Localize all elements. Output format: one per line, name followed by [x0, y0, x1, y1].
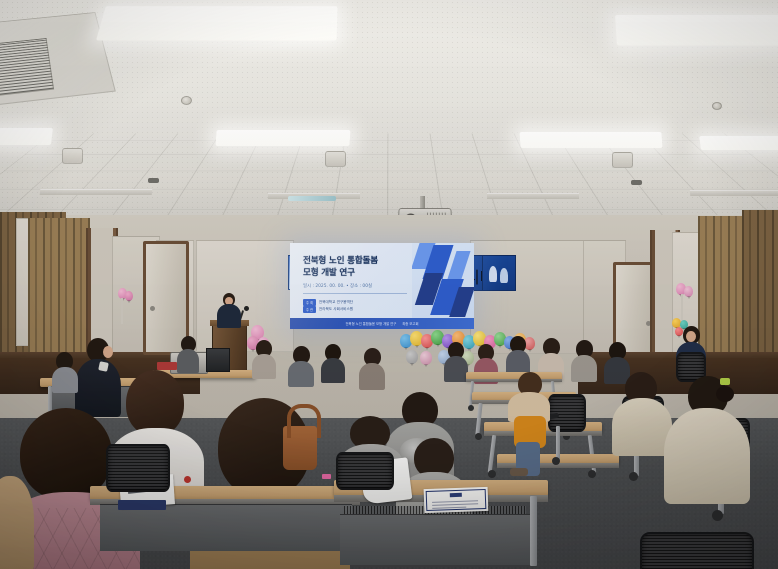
audience-member-cream-coat: [664, 376, 750, 502]
ceiling-light-panel: [519, 132, 662, 148]
ceiling-light-panel: [699, 136, 778, 150]
ceiling-sensor: [631, 180, 642, 185]
audience-member: [538, 338, 564, 376]
monitor-screen: [206, 348, 230, 372]
fire-sprinkler: [181, 96, 192, 105]
audience-member: [321, 344, 345, 380]
projection-screen: 전북형 노인 통합돌봄 모형 개발 연구 일시 : 2025. 00. 00. …: [290, 243, 474, 329]
speaker-torso: [217, 304, 241, 328]
red-folder: [157, 362, 177, 370]
audience-member: [177, 336, 199, 370]
ceiling-rail: [690, 190, 778, 196]
left-door-knob[interactable]: [150, 306, 155, 311]
banner-figure: [500, 268, 508, 283]
pink-sticky-note: [322, 474, 331, 479]
balloon: [406, 350, 418, 364]
slide-footer-text: 전북형 노인 통합돌봄 모형 개발 연구: [346, 321, 397, 326]
slide-title-line1: 전북형 노인 통합돌봄: [303, 256, 407, 268]
ceiling-sensor: [148, 178, 159, 183]
slide-footer-text: 최종 보고회: [402, 321, 418, 326]
projector-mount-arm: [420, 196, 425, 209]
ceiling-speaker: [62, 148, 83, 164]
desk-leg: [530, 496, 537, 566]
ceiling-speaker: [325, 151, 346, 167]
balloon-stand-pole: [681, 294, 683, 322]
speaker-at-podium: [216, 293, 242, 327]
audience-member: [252, 340, 276, 376]
audience-member: [571, 340, 597, 378]
slide-credit-row: 주 관 전라북도 사회서비스원: [303, 306, 353, 313]
seminar-room-photo: 니다! 전북형 노인 통합돌봄 모형 개발 연구 일시 : 2025. 00. …: [0, 0, 778, 569]
ceiling-light-panel: [215, 130, 350, 146]
chair-base-leg: [556, 426, 560, 460]
slide-title-line2: 모형 개발 연구: [303, 268, 407, 280]
audience-member: [0, 476, 34, 569]
handbag-strap: [287, 404, 321, 438]
air-conditioner-vent: [0, 12, 116, 106]
decor-balloon-pink: [684, 286, 693, 297]
slide-badge: 주 최: [303, 299, 316, 306]
mesh-office-chair[interactable]: [640, 532, 754, 569]
wall-blue-banner-right: [482, 255, 516, 291]
banner-figure: [489, 266, 497, 282]
podium-microphone-head: [244, 306, 249, 311]
person-torso: [359, 363, 385, 390]
desk-caster: [468, 405, 474, 411]
ceiling-fluorescent-strip: [288, 196, 336, 201]
slide-credit-text: 전북대학교 연구용역단: [319, 300, 353, 305]
person-coat: [0, 476, 34, 569]
person-torso: [321, 358, 345, 383]
ceiling-light-panel: [615, 15, 778, 45]
audience-member: [444, 342, 468, 378]
certificate-document: [424, 487, 489, 513]
ceiling-speaker: [612, 152, 633, 168]
person-torso: [571, 355, 597, 382]
balloon-stand-pole: [121, 298, 123, 324]
chair-caster: [629, 472, 638, 481]
slide-credit-row: 주 최 전북대학교 연구용역단: [303, 299, 353, 306]
desk-caster: [475, 433, 482, 440]
audience-member: [288, 346, 314, 384]
presentation-slide: 전북형 노인 통합돌봄 모형 개발 연구 일시 : 2025. 00. 00. …: [290, 243, 474, 329]
decor-balloon-pink: [125, 291, 133, 301]
audience-member-mustard-coat: [508, 372, 550, 444]
slide-badge: 주 관: [303, 306, 316, 313]
ceiling-light-panel: [0, 128, 53, 145]
right-curtain: [742, 210, 778, 362]
desk-modesty-panel: [100, 504, 352, 551]
mesh-office-chair[interactable]: [106, 444, 170, 492]
slide-divider: [303, 293, 407, 294]
fire-sprinkler: [712, 102, 722, 110]
person-coat: [664, 408, 750, 504]
person-coat: [612, 398, 672, 456]
ac-vent-grille: [0, 38, 54, 96]
person-face: [686, 331, 696, 342]
person-face: [103, 346, 113, 358]
hair-bun: [716, 386, 734, 402]
chair-caster: [552, 457, 560, 465]
certificate-emblem: [450, 493, 462, 497]
audience-member-cream-coat: [612, 372, 672, 454]
chevron-shape: [447, 251, 470, 279]
person-torso: [288, 361, 314, 387]
slide-title: 전북형 노인 통합돌봄 모형 개발 연구: [303, 256, 407, 280]
person-torso: [252, 354, 276, 379]
hair-clip: [720, 378, 730, 385]
audience-member: [52, 352, 78, 390]
slide-subtitle: 일시 : 2025. 00. 00. • 장소 : 00실: [303, 284, 415, 290]
ceiling-light-panel: [96, 6, 338, 40]
audience-member: [506, 336, 530, 372]
person-torso: [52, 367, 78, 393]
ceiling-rail: [40, 189, 153, 195]
left-curtain: [28, 218, 90, 358]
ceiling: [0, 0, 778, 238]
desk-caster: [488, 470, 496, 478]
audience-member: [359, 348, 385, 386]
slide-credit-text: 전라북도 사회서비스원: [319, 307, 353, 312]
desk-modesty-panel: [340, 514, 536, 565]
person-shoe: [510, 468, 528, 476]
mesh-office-chair[interactable]: [336, 452, 394, 490]
ceiling-rail: [487, 193, 579, 199]
desk-caster: [588, 470, 596, 478]
chair-caster: [712, 510, 723, 521]
notebook: [118, 500, 166, 510]
person-torso: [444, 356, 468, 382]
slide-accent-graphic: [412, 243, 474, 329]
balloon: [420, 351, 432, 365]
